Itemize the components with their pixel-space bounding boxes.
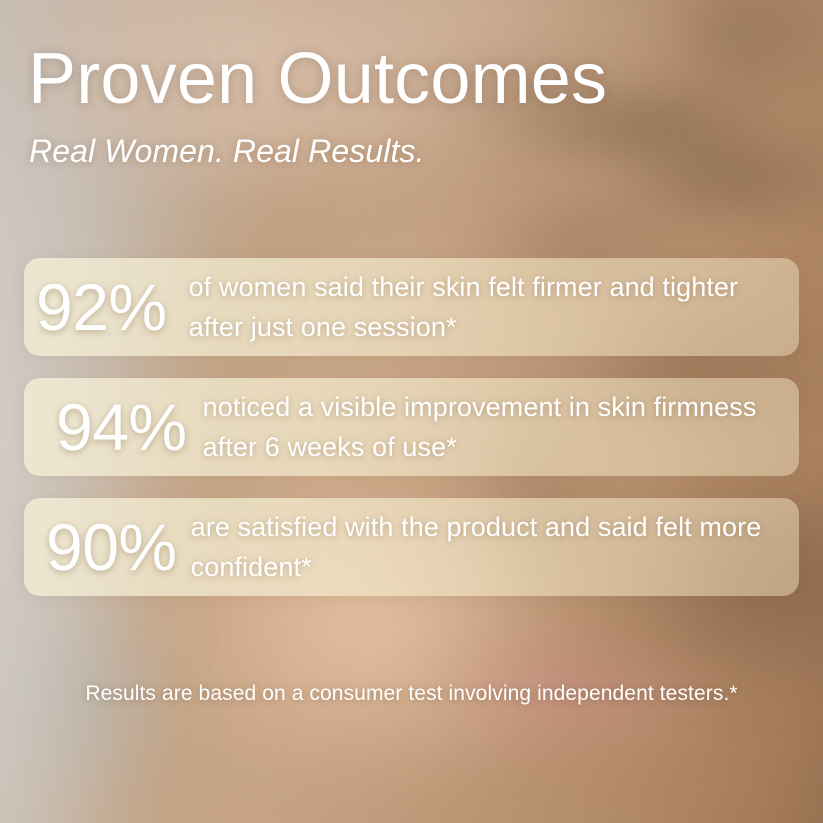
stat-percentage: 92% xyxy=(24,274,167,340)
stats-list: 92% of women said their skin felt firmer… xyxy=(24,258,799,618)
stat-card: 90% are satisfied with the product and s… xyxy=(24,498,799,596)
stat-percentage: 90% xyxy=(24,514,177,580)
page-title: Proven Outcomes xyxy=(28,42,607,118)
stat-percentage: 94% xyxy=(24,394,187,460)
disclaimer-text: Results are based on a consumer test inv… xyxy=(0,682,823,706)
stat-card: 92% of women said their skin felt firmer… xyxy=(24,258,799,356)
page-subtitle: Real Women. Real Results. xyxy=(29,133,425,170)
stat-description: of women said their skin felt firmer and… xyxy=(167,267,799,347)
poster-content: Proven Outcomes Real Women. Real Results… xyxy=(0,0,823,823)
stat-description: noticed a visible improvement in skin fi… xyxy=(187,387,799,467)
stat-description: are satisfied with the product and said … xyxy=(177,507,799,587)
stat-card: 94% noticed a visible improvement in ski… xyxy=(24,378,799,476)
proven-outcomes-poster: Proven Outcomes Real Women. Real Results… xyxy=(0,0,823,823)
